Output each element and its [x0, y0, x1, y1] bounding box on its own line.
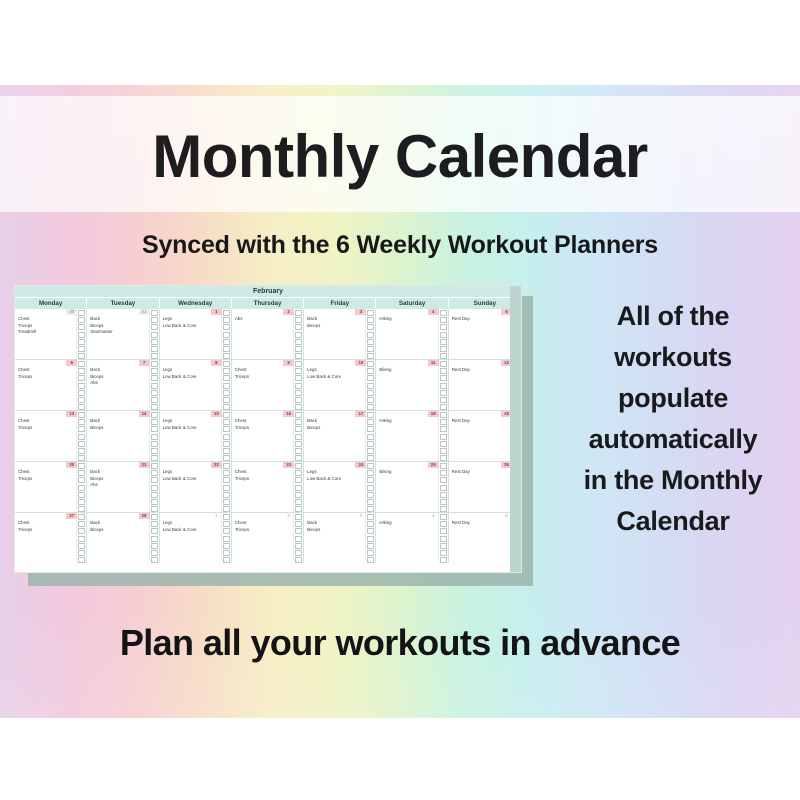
workout-entry: Rest Day [452, 520, 511, 527]
workout-checkbox[interactable] [223, 317, 230, 323]
workout-checkbox[interactable] [78, 485, 85, 491]
calendar-day-cell[interactable]: 24LegsLow Back & Core [304, 462, 376, 512]
workout-checkbox[interactable] [78, 441, 85, 447]
workout-checkbox[interactable] [440, 448, 447, 454]
calendar-day-cell[interactable]: 6ChestTriceps [15, 360, 87, 410]
calendar-day-cell[interactable]: 31BackBicepsStairmaster [87, 309, 159, 359]
calendar-day-cell[interactable]: 15LegsLow Back & Core [160, 411, 232, 461]
workout-checkbox[interactable] [367, 353, 374, 359]
workout-checkbox[interactable] [78, 426, 85, 432]
workout-checkbox[interactable] [440, 521, 447, 527]
workout-checkbox[interactable] [295, 521, 302, 527]
workout-checkbox[interactable] [440, 397, 447, 403]
page-title: Monthly Calendar [0, 114, 800, 200]
workout-checkbox[interactable] [78, 528, 85, 534]
workout-checkbox[interactable] [223, 397, 230, 403]
workout-checkbox[interactable] [223, 324, 230, 330]
workout-checkbox[interactable] [151, 492, 158, 498]
workout-checkbox[interactable] [295, 463, 302, 469]
workout-checkbox[interactable] [367, 317, 374, 323]
calendar-day-number: 24 [355, 462, 366, 468]
calendar-day-number: 10 [355, 360, 366, 366]
workout-checkbox[interactable] [151, 339, 158, 345]
workout-checkbox[interactable] [223, 448, 230, 454]
workout-checkbox[interactable] [78, 470, 85, 476]
workout-checkbox[interactable] [223, 463, 230, 469]
workout-checkbox[interactable] [223, 492, 230, 498]
workout-checkbox[interactable] [295, 441, 302, 447]
calendar-day-cell[interactable]: 14BackBiceps [87, 411, 159, 461]
workout-checkbox[interactable] [295, 375, 302, 381]
workout-checkbox[interactable] [223, 485, 230, 491]
workout-checkbox[interactable] [151, 412, 158, 418]
workout-checkbox[interactable] [440, 383, 447, 389]
workout-checkbox[interactable] [367, 434, 374, 440]
workout-checkbox[interactable] [78, 463, 85, 469]
workout-checkbox[interactable] [440, 361, 447, 367]
calendar-day-cell[interactable]: 20ChestTriceps [15, 462, 87, 512]
workout-checkbox[interactable] [367, 332, 374, 338]
workout-checkbox[interactable] [367, 543, 374, 549]
workout-checkbox[interactable] [440, 441, 447, 447]
workout-checkbox[interactable] [151, 361, 158, 367]
workout-checkbox[interactable] [151, 383, 158, 389]
workout-checkbox[interactable] [367, 557, 374, 563]
workout-checkbox[interactable] [78, 506, 85, 512]
workout-checkbox[interactable] [151, 441, 158, 447]
workout-checkbox-column [293, 309, 303, 359]
workout-checkbox[interactable] [151, 499, 158, 505]
workout-checkbox[interactable] [223, 390, 230, 396]
workout-checkbox[interactable] [223, 550, 230, 556]
workout-checkbox[interactable] [440, 514, 447, 520]
workout-checkbox[interactable] [151, 521, 158, 527]
workout-checkbox-column [365, 462, 375, 512]
workout-checkbox[interactable] [367, 514, 374, 520]
workout-checkbox[interactable] [223, 543, 230, 549]
workout-entry: Low Back & Core [163, 425, 221, 432]
workout-checkbox[interactable] [440, 557, 447, 563]
workout-checkbox[interactable] [440, 339, 447, 345]
workout-checkbox[interactable] [223, 404, 230, 410]
workout-checkbox[interactable] [367, 455, 374, 461]
calendar-day-cell[interactable]: 30ChestTricepsTreadmill [15, 309, 87, 359]
workout-checkbox[interactable] [78, 412, 85, 418]
workout-entry: Low Back & Core [163, 476, 221, 483]
workout-checkbox[interactable] [295, 506, 302, 512]
workout-checkbox[interactable] [367, 346, 374, 352]
calendar-day-cell[interactable]: 28BackBiceps [87, 513, 159, 563]
workout-checkbox[interactable] [223, 426, 230, 432]
calendar-day-workouts: Rest Day [449, 411, 511, 461]
workout-checkbox[interactable] [223, 506, 230, 512]
workout-checkbox[interactable] [78, 499, 85, 505]
workout-entry: Hiking [379, 418, 437, 425]
workout-checkbox[interactable] [367, 550, 374, 556]
workout-checkbox[interactable] [295, 426, 302, 432]
workout-checkbox-column [221, 462, 231, 512]
workout-checkbox[interactable] [151, 368, 158, 374]
side-description-line: in the Monthly [548, 460, 798, 501]
calendar-day-workouts: Abs [232, 309, 293, 359]
workout-checkbox[interactable] [440, 317, 447, 323]
workout-checkbox[interactable] [78, 477, 85, 483]
workout-checkbox[interactable] [295, 383, 302, 389]
workout-entry: Biking [379, 367, 437, 374]
workout-checkbox[interactable] [223, 434, 230, 440]
workout-checkbox[interactable] [367, 310, 374, 316]
workout-checkbox[interactable] [151, 485, 158, 491]
workout-entry: Chest [235, 469, 293, 476]
workout-entry: Legs [163, 316, 221, 323]
workout-entry: Chest [235, 520, 293, 527]
workout-checkbox[interactable] [223, 521, 230, 527]
workout-checkbox[interactable] [223, 375, 230, 381]
workout-checkbox[interactable] [151, 455, 158, 461]
workout-checkbox[interactable] [295, 339, 302, 345]
workout-checkbox[interactable] [440, 477, 447, 483]
workout-checkbox[interactable] [440, 499, 447, 505]
workout-checkbox[interactable] [223, 346, 230, 352]
calendar-day-cell[interactable]: 16ChestTriceps [232, 411, 304, 461]
workout-checkbox[interactable] [223, 470, 230, 476]
calendar-day-cell[interactable]: 3BackBiceps [304, 513, 376, 563]
workout-checkbox[interactable] [295, 346, 302, 352]
workout-checkbox-column [76, 411, 86, 461]
workout-checkbox[interactable] [151, 375, 158, 381]
workout-checkbox[interactable] [223, 528, 230, 534]
workout-checkbox[interactable] [440, 492, 447, 498]
workout-checkbox[interactable] [367, 375, 374, 381]
calendar-day-workouts: BackBiceps [304, 411, 365, 461]
workout-checkbox[interactable] [151, 506, 158, 512]
workout-checkbox[interactable] [440, 426, 447, 432]
workout-entry: Stairmaster [90, 329, 148, 336]
workout-checkbox[interactable] [151, 310, 158, 316]
workout-checkbox[interactable] [367, 448, 374, 454]
workout-checkbox[interactable] [440, 324, 447, 330]
workout-checkbox[interactable] [223, 368, 230, 374]
workout-checkbox[interactable] [78, 492, 85, 498]
workout-checkbox[interactable] [295, 550, 302, 556]
workout-checkbox[interactable] [295, 361, 302, 367]
calendar-day-number: 4 [428, 513, 439, 519]
workout-checkbox[interactable] [223, 455, 230, 461]
workout-checkbox[interactable] [440, 346, 447, 352]
workout-checkbox[interactable] [223, 477, 230, 483]
workout-checkbox[interactable] [78, 557, 85, 563]
calendar-day-number: 31 [139, 309, 150, 315]
workout-checkbox[interactable] [151, 514, 158, 520]
workout-checkbox[interactable] [78, 375, 85, 381]
workout-entry: Abs [90, 380, 148, 387]
calendar-day-cell[interactable]: 21BackBicepsAbs [87, 462, 159, 512]
workout-checkbox[interactable] [367, 412, 374, 418]
workout-checkbox[interactable] [440, 434, 447, 440]
calendar-day-workouts: ChestTriceps [232, 360, 293, 410]
workout-checkbox[interactable] [367, 404, 374, 410]
workout-checkbox[interactable] [151, 434, 158, 440]
workout-checkbox[interactable] [223, 361, 230, 367]
workout-checkbox[interactable] [440, 368, 447, 374]
workout-checkbox[interactable] [295, 434, 302, 440]
workout-checkbox[interactable] [151, 448, 158, 454]
workout-checkbox[interactable] [78, 455, 85, 461]
workout-checkbox[interactable] [295, 390, 302, 396]
workout-checkbox[interactable] [367, 463, 374, 469]
workout-checkbox[interactable] [151, 390, 158, 396]
workout-checkbox[interactable] [367, 426, 374, 432]
workout-checkbox[interactable] [295, 514, 302, 520]
workout-entry: Triceps [18, 323, 76, 330]
workout-checkbox[interactable] [78, 368, 85, 374]
workout-checkbox[interactable] [78, 536, 85, 542]
workout-checkbox[interactable] [440, 470, 447, 476]
workout-checkbox[interactable] [295, 470, 302, 476]
workout-checkbox[interactable] [223, 557, 230, 563]
workout-checkbox[interactable] [223, 353, 230, 359]
workout-checkbox[interactable] [151, 528, 158, 534]
workout-checkbox[interactable] [440, 536, 447, 542]
workout-entry: Triceps [18, 425, 76, 432]
calendar-day-cell[interactable]: 2ChestTriceps [232, 513, 304, 563]
workout-checkbox[interactable] [295, 412, 302, 418]
workout-checkbox[interactable] [78, 361, 85, 367]
calendar-day-cell[interactable]: 7BackBicepsAbs [87, 360, 159, 410]
workout-checkbox-column [76, 360, 86, 410]
workout-checkbox[interactable] [367, 477, 374, 483]
workout-checkbox[interactable] [78, 317, 85, 323]
workout-checkbox[interactable] [78, 514, 85, 520]
workout-checkbox[interactable] [440, 310, 447, 316]
workout-checkbox[interactable] [367, 397, 374, 403]
workout-checkbox[interactable] [367, 339, 374, 345]
workout-checkbox[interactable] [223, 419, 230, 425]
calendar-day-cell[interactable]: 1LegsLow Back & Core [160, 513, 232, 563]
workout-entry: Legs [307, 367, 365, 374]
workout-checkbox[interactable] [78, 448, 85, 454]
workout-checkbox[interactable] [223, 499, 230, 505]
workout-checkbox[interactable] [295, 492, 302, 498]
workout-checkbox[interactable] [295, 499, 302, 505]
workout-checkbox[interactable] [78, 434, 85, 440]
workout-checkbox[interactable] [367, 470, 374, 476]
calendar-day-cell[interactable]: 1LegsLow Back & Core [160, 309, 232, 359]
workout-checkbox[interactable] [223, 383, 230, 389]
workout-checkbox[interactable] [223, 514, 230, 520]
calendar-day-number: 2 [283, 513, 294, 519]
workout-checkbox[interactable] [78, 404, 85, 410]
workout-checkbox[interactable] [367, 521, 374, 527]
workout-checkbox[interactable] [223, 332, 230, 338]
workout-checkbox[interactable] [295, 557, 302, 563]
workout-entry: Triceps [18, 527, 76, 534]
workout-checkbox[interactable] [440, 506, 447, 512]
workout-checkbox[interactable] [440, 455, 447, 461]
workout-checkbox[interactable] [78, 521, 85, 527]
calendar-day-workouts: ChestTriceps [232, 513, 293, 563]
workout-checkbox[interactable] [295, 332, 302, 338]
workout-checkbox[interactable] [440, 404, 447, 410]
workout-checkbox[interactable] [78, 339, 85, 345]
calendar-day-workouts: BackBiceps [304, 309, 365, 359]
workout-checkbox[interactable] [440, 485, 447, 491]
workout-checkbox[interactable] [151, 536, 158, 542]
workout-checkbox[interactable] [78, 310, 85, 316]
workout-entry: Biceps [90, 476, 148, 483]
workout-checkbox[interactable] [367, 390, 374, 396]
workout-checkbox[interactable] [295, 485, 302, 491]
workout-checkbox[interactable] [295, 368, 302, 374]
workout-checkbox[interactable] [367, 383, 374, 389]
calendar-day-cell[interactable]: 27ChestTriceps [15, 513, 87, 563]
calendar-day-number: 4 [428, 309, 439, 315]
calendar-week-row: 27ChestTriceps28BackBiceps1LegsLow Back … [15, 513, 521, 563]
workout-checkbox[interactable] [78, 346, 85, 352]
workout-checkbox[interactable] [151, 317, 158, 323]
workout-checkbox[interactable] [440, 390, 447, 396]
calendar-day-cell[interactable]: 23ChestTriceps [232, 462, 304, 512]
workout-entry: Abs [90, 482, 148, 489]
workout-checkbox[interactable] [223, 441, 230, 447]
workout-checkbox[interactable] [295, 310, 302, 316]
workout-checkbox[interactable] [367, 528, 374, 534]
workout-checkbox[interactable] [295, 324, 302, 330]
calendar-day-workouts: BackBiceps [304, 513, 365, 563]
calendar-day-cell[interactable]: 3BackBiceps [304, 309, 376, 359]
workout-checkbox-column [438, 411, 448, 461]
workout-checkbox[interactable] [440, 375, 447, 381]
calendar-day-cell[interactable]: 25Biking [376, 462, 448, 512]
workout-checkbox[interactable] [367, 506, 374, 512]
workout-checkbox[interactable] [295, 536, 302, 542]
calendar-day-cell[interactable]: 10LegsLow Back & Core [304, 360, 376, 410]
workout-checkbox-column [438, 462, 448, 512]
workout-checkbox[interactable] [78, 419, 85, 425]
workout-checkbox-column [221, 513, 231, 563]
calendar-day-header: Tuesday [87, 298, 159, 309]
calendar-day-header: Friday [304, 298, 376, 309]
workout-checkbox[interactable] [295, 543, 302, 549]
workout-checkbox[interactable] [151, 397, 158, 403]
workout-checkbox[interactable] [367, 441, 374, 447]
calendar-day-number: 20 [66, 462, 77, 468]
workout-checkbox[interactable] [151, 426, 158, 432]
workout-checkbox[interactable] [151, 332, 158, 338]
workout-checkbox-column [149, 309, 159, 359]
workout-checkbox[interactable] [367, 368, 374, 374]
workout-checkbox[interactable] [151, 353, 158, 359]
workout-checkbox-column [365, 309, 375, 359]
calendar-day-number: 23 [283, 462, 294, 468]
workout-checkbox[interactable] [223, 339, 230, 345]
workout-checkbox[interactable] [151, 463, 158, 469]
workout-checkbox[interactable] [295, 317, 302, 323]
workout-checkbox[interactable] [78, 397, 85, 403]
workout-checkbox[interactable] [440, 332, 447, 338]
calendar-day-number: 18 [428, 411, 439, 417]
workout-checkbox[interactable] [367, 499, 374, 505]
workout-checkbox[interactable] [367, 492, 374, 498]
calendar-day-cell[interactable]: 4Hiking [376, 309, 448, 359]
workout-checkbox[interactable] [151, 419, 158, 425]
workout-checkbox[interactable] [151, 346, 158, 352]
page-subtitle: Synced with the 6 Weekly Workout Planner… [0, 226, 800, 264]
calendar-day-cell[interactable]: 22LegsLow Back & Core [160, 462, 232, 512]
workout-checkbox[interactable] [223, 412, 230, 418]
workout-checkbox[interactable] [295, 528, 302, 534]
workout-checkbox[interactable] [78, 550, 85, 556]
calendar-day-cell[interactable]: 2Abs [232, 309, 304, 359]
workout-checkbox-column [76, 462, 86, 512]
workout-checkbox[interactable] [78, 353, 85, 359]
calendar-day-number: 1 [211, 309, 222, 315]
workout-checkbox[interactable] [151, 477, 158, 483]
calendar-day-cell[interactable]: 8LegsLow Back & Core [160, 360, 232, 410]
workout-checkbox[interactable] [367, 536, 374, 542]
workout-checkbox[interactable] [223, 310, 230, 316]
workout-checkbox[interactable] [151, 404, 158, 410]
workout-entry: Biceps [307, 527, 365, 534]
calendar-day-cell[interactable]: 4Hiking [376, 513, 448, 563]
workout-checkbox[interactable] [367, 485, 374, 491]
calendar-day-cell[interactable]: 13ChestTriceps [15, 411, 87, 461]
workout-checkbox[interactable] [151, 557, 158, 563]
workout-checkbox[interactable] [78, 332, 85, 338]
workout-checkbox[interactable] [440, 419, 447, 425]
workout-entry: Chest [18, 418, 76, 425]
workout-checkbox[interactable] [440, 353, 447, 359]
calendar-day-cell[interactable]: 17BackBiceps [304, 411, 376, 461]
workout-checkbox[interactable] [440, 528, 447, 534]
workout-checkbox[interactable] [440, 543, 447, 549]
calendar-day-workouts: LegsLow Back & Core [304, 462, 365, 512]
calendar-week-row: 20ChestTriceps21BackBicepsAbs22LegsLow B… [15, 462, 521, 513]
workout-checkbox[interactable] [440, 463, 447, 469]
workout-checkbox[interactable] [367, 419, 374, 425]
workout-checkbox[interactable] [295, 455, 302, 461]
workout-checkbox[interactable] [151, 470, 158, 476]
calendar-day-workouts: BackBicepsStairmaster [87, 309, 148, 359]
workout-entry: Low Back & Core [163, 527, 221, 534]
workout-checkbox[interactable] [295, 397, 302, 403]
workout-checkbox[interactable] [367, 361, 374, 367]
workout-checkbox[interactable] [223, 536, 230, 542]
workout-entry: Rest Day [452, 418, 511, 425]
workout-checkbox[interactable] [295, 353, 302, 359]
workout-checkbox[interactable] [440, 550, 447, 556]
workout-entry: Back [307, 520, 365, 527]
workout-checkbox[interactable] [367, 324, 374, 330]
workout-checkbox[interactable] [78, 543, 85, 549]
workout-checkbox[interactable] [78, 383, 85, 389]
workout-checkbox[interactable] [78, 324, 85, 330]
calendar-day-cell[interactable]: 11Biking [376, 360, 448, 410]
calendar-day-workouts: ChestTriceps [15, 411, 76, 461]
workout-checkbox[interactable] [151, 324, 158, 330]
workout-checkbox[interactable] [295, 448, 302, 454]
calendar-day-header: Saturday [376, 298, 448, 309]
workout-checkbox[interactable] [151, 543, 158, 549]
calendar-day-cell[interactable]: 18Hiking [376, 411, 448, 461]
workout-checkbox[interactable] [295, 477, 302, 483]
calendar-day-cell[interactable]: 9ChestTriceps [232, 360, 304, 410]
workout-checkbox[interactable] [78, 390, 85, 396]
workout-checkbox[interactable] [151, 550, 158, 556]
workout-checkbox[interactable] [295, 419, 302, 425]
workout-checkbox[interactable] [295, 404, 302, 410]
workout-checkbox[interactable] [440, 412, 447, 418]
